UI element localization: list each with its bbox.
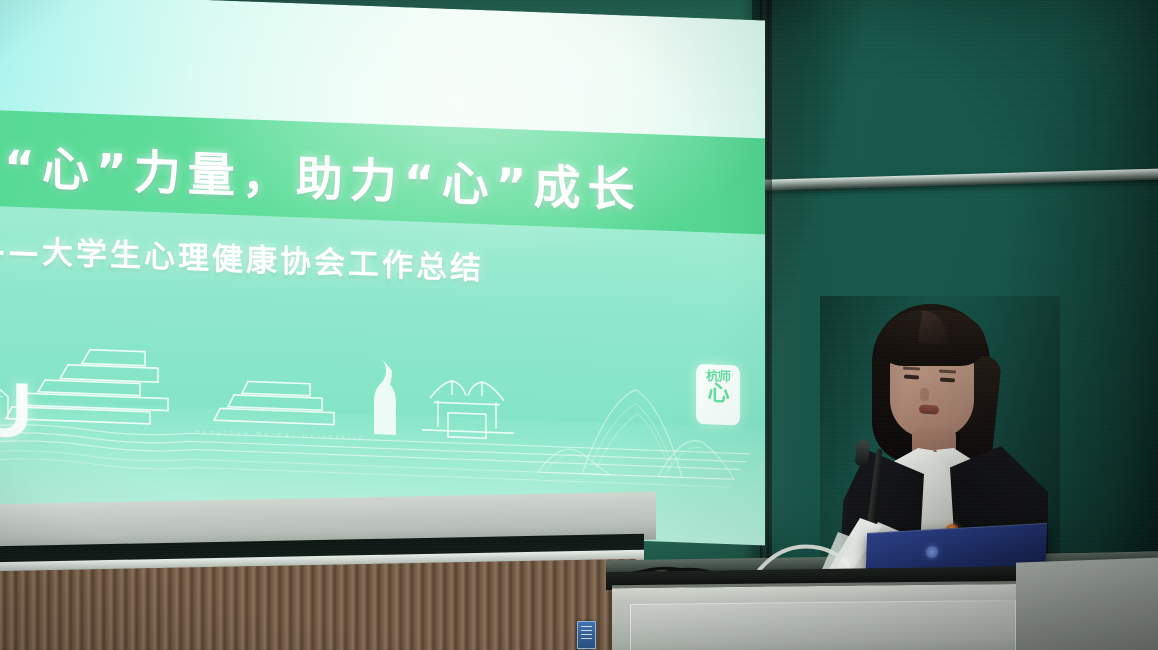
podium bbox=[612, 581, 1032, 650]
wood-slat-panel bbox=[0, 559, 636, 650]
seal-bottom-text: 心 bbox=[701, 386, 735, 402]
presentation-scene: Hangzhou Normal University 杭师 心 “心”力量，助力… bbox=[0, 0, 1158, 650]
watermark-letter: U bbox=[0, 369, 32, 449]
projection-screen: Hangzhou Normal University 杭师 心 “心”力量，助力… bbox=[0, 0, 765, 545]
podium-side bbox=[1016, 557, 1158, 650]
slide-artwork bbox=[0, 322, 765, 510]
mouth bbox=[919, 404, 940, 414]
university-seal: 杭师 心 bbox=[696, 364, 740, 426]
podium-front-panel bbox=[630, 600, 1016, 650]
nose bbox=[920, 388, 929, 401]
wall-sign bbox=[577, 621, 596, 649]
